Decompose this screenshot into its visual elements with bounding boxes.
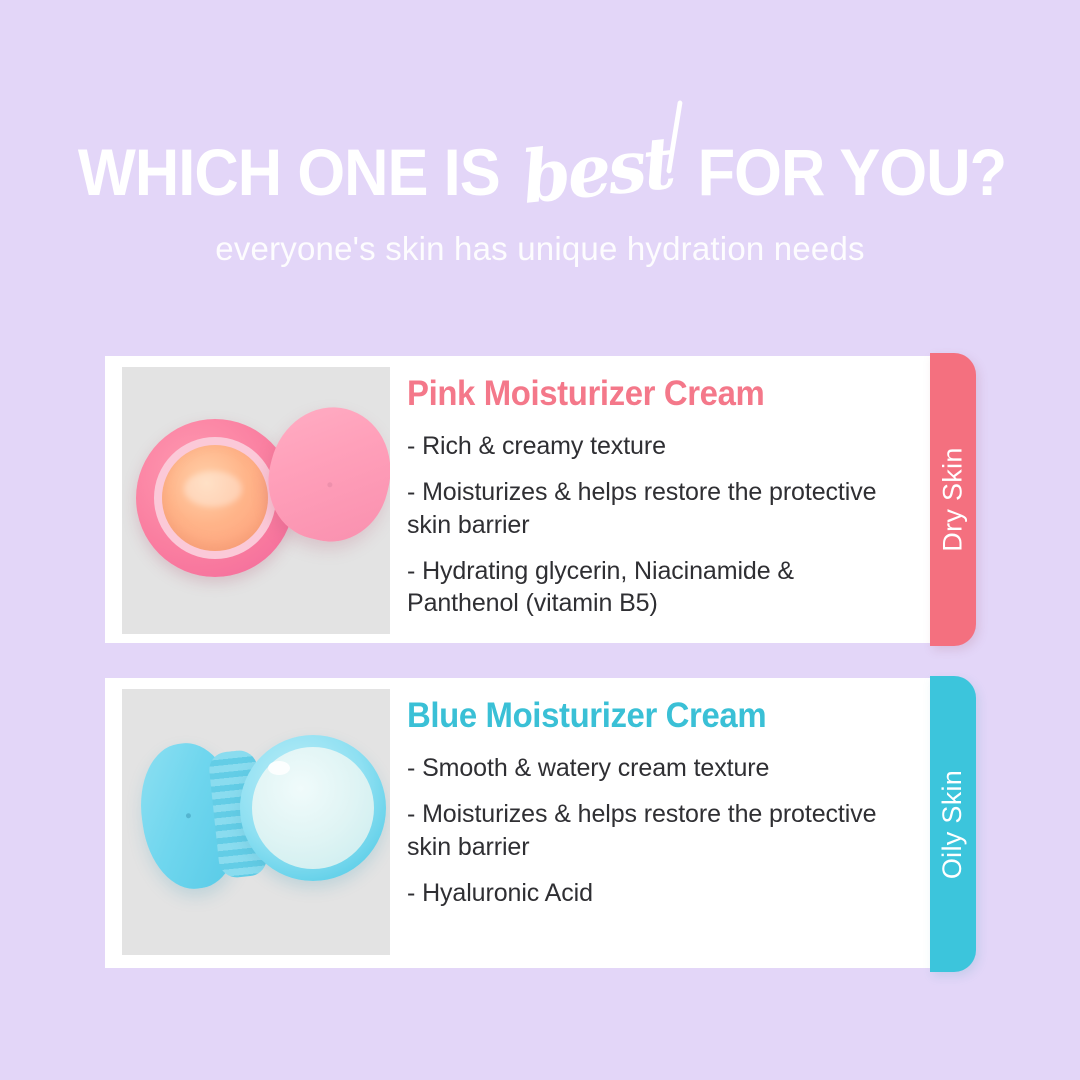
- header: WHICH ONE IS best FOR YOU? everyone's sk…: [0, 134, 1080, 268]
- feature-item: - Smooth & watery cream texture: [407, 752, 882, 784]
- product-card-blue[interactable]: Blue Moisturizer Cream - Smooth & watery…: [105, 678, 930, 968]
- jar-gel-shape: [252, 747, 374, 869]
- feature-item: - Moisturizes & helps restore the protec…: [407, 798, 882, 863]
- feature-item: - Hydrating glycerin, Niacinamide & Pant…: [407, 555, 877, 620]
- headline-text-before: WHICH ONE IS: [78, 139, 500, 205]
- product-photo-blue: [122, 689, 390, 955]
- feature-item: - Hyaluronic Acid: [407, 877, 882, 909]
- product-details-pink: Pink Moisturizer Cream - Rich & creamy t…: [390, 356, 930, 633]
- product-details-blue: Blue Moisturizer Cream - Smooth & watery…: [390, 678, 930, 923]
- skin-type-tab-label: Dry Skin: [938, 447, 969, 551]
- product-card-pink[interactable]: Pink Moisturizer Cream - Rich & creamy t…: [105, 356, 930, 643]
- skin-type-tab-oily[interactable]: Oily Skin: [930, 676, 976, 972]
- headline-script-word: best: [513, 126, 681, 214]
- headline: WHICH ONE IS best FOR YOU?: [0, 134, 1080, 206]
- skin-type-tab-dry[interactable]: Dry Skin: [930, 353, 976, 646]
- infographic-canvas: WHICH ONE IS best FOR YOU? everyone's sk…: [0, 0, 1080, 1080]
- headline-text-after: FOR YOU?: [698, 139, 1007, 205]
- product-title-blue: Blue Moisturizer Cream: [407, 696, 899, 736]
- feature-item: - Rich & creamy texture: [407, 430, 877, 462]
- product-photo-pink: [122, 367, 390, 634]
- product-title-pink: Pink Moisturizer Cream: [407, 374, 899, 414]
- skin-type-tab-label: Oily Skin: [938, 769, 969, 878]
- jar-cream-shape: [162, 445, 268, 551]
- subtitle: everyone's skin has unique hydration nee…: [0, 230, 1080, 268]
- feature-item: - Moisturizes & helps restore the protec…: [407, 476, 877, 541]
